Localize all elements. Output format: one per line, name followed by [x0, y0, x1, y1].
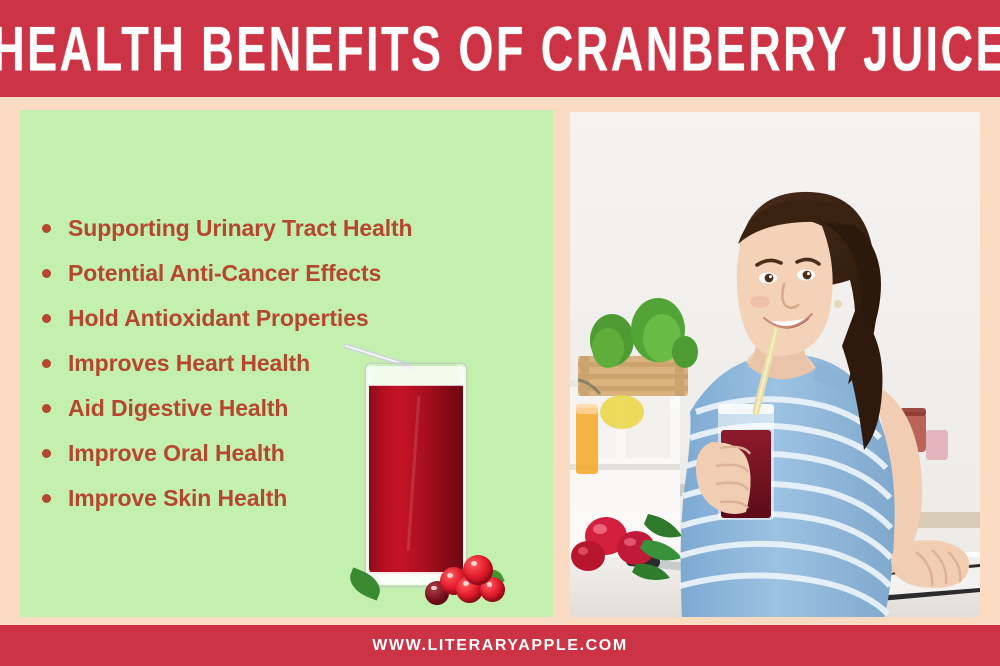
- site-url[interactable]: www.literaryapple.com: [372, 637, 628, 655]
- list-item: Potential Anti-Cancer Effects: [42, 251, 542, 296]
- header-bar: Health Benefits of Cranberry Juice: [0, 0, 1000, 97]
- bullet-icon: [42, 404, 51, 413]
- bullet-icon: [42, 314, 51, 323]
- benefit-label: Improves Heart Health: [68, 350, 310, 377]
- benefit-label: Improve Skin Health: [68, 485, 287, 512]
- benefit-label: Aid Digestive Health: [68, 395, 288, 422]
- bullet-icon: [42, 269, 51, 278]
- list-item: Supporting Urinary Tract Health: [42, 206, 542, 251]
- bullet-icon: [42, 224, 51, 233]
- juice-liquid: [369, 385, 463, 574]
- cranberry-juice-illustration: [330, 340, 530, 605]
- pregnant-woman-photo: [570, 112, 980, 617]
- list-item: Hold Antioxidant Properties: [42, 296, 542, 341]
- footer-bar: www.literaryapple.com: [0, 625, 1000, 666]
- photo-artwork: [570, 112, 980, 617]
- benefit-label: Supporting Urinary Tract Health: [68, 215, 413, 242]
- benefit-label: Hold Antioxidant Properties: [68, 305, 369, 332]
- page-title: Health Benefits of Cranberry Juice: [0, 12, 1000, 86]
- juice-glass: [366, 364, 466, 586]
- cranberry-icon: [463, 555, 493, 585]
- infographic-root: Health Benefits of Cranberry Juice Suppo…: [0, 0, 1000, 666]
- bullet-icon: [42, 494, 51, 503]
- benefit-label: Improve Oral Health: [68, 440, 285, 467]
- bullet-icon: [42, 449, 51, 458]
- bullet-icon: [42, 359, 51, 368]
- glass-rim: [368, 366, 464, 386]
- benefit-label: Potential Anti-Cancer Effects: [68, 260, 381, 287]
- benefits-panel: Supporting Urinary Tract Health Potentia…: [20, 110, 553, 617]
